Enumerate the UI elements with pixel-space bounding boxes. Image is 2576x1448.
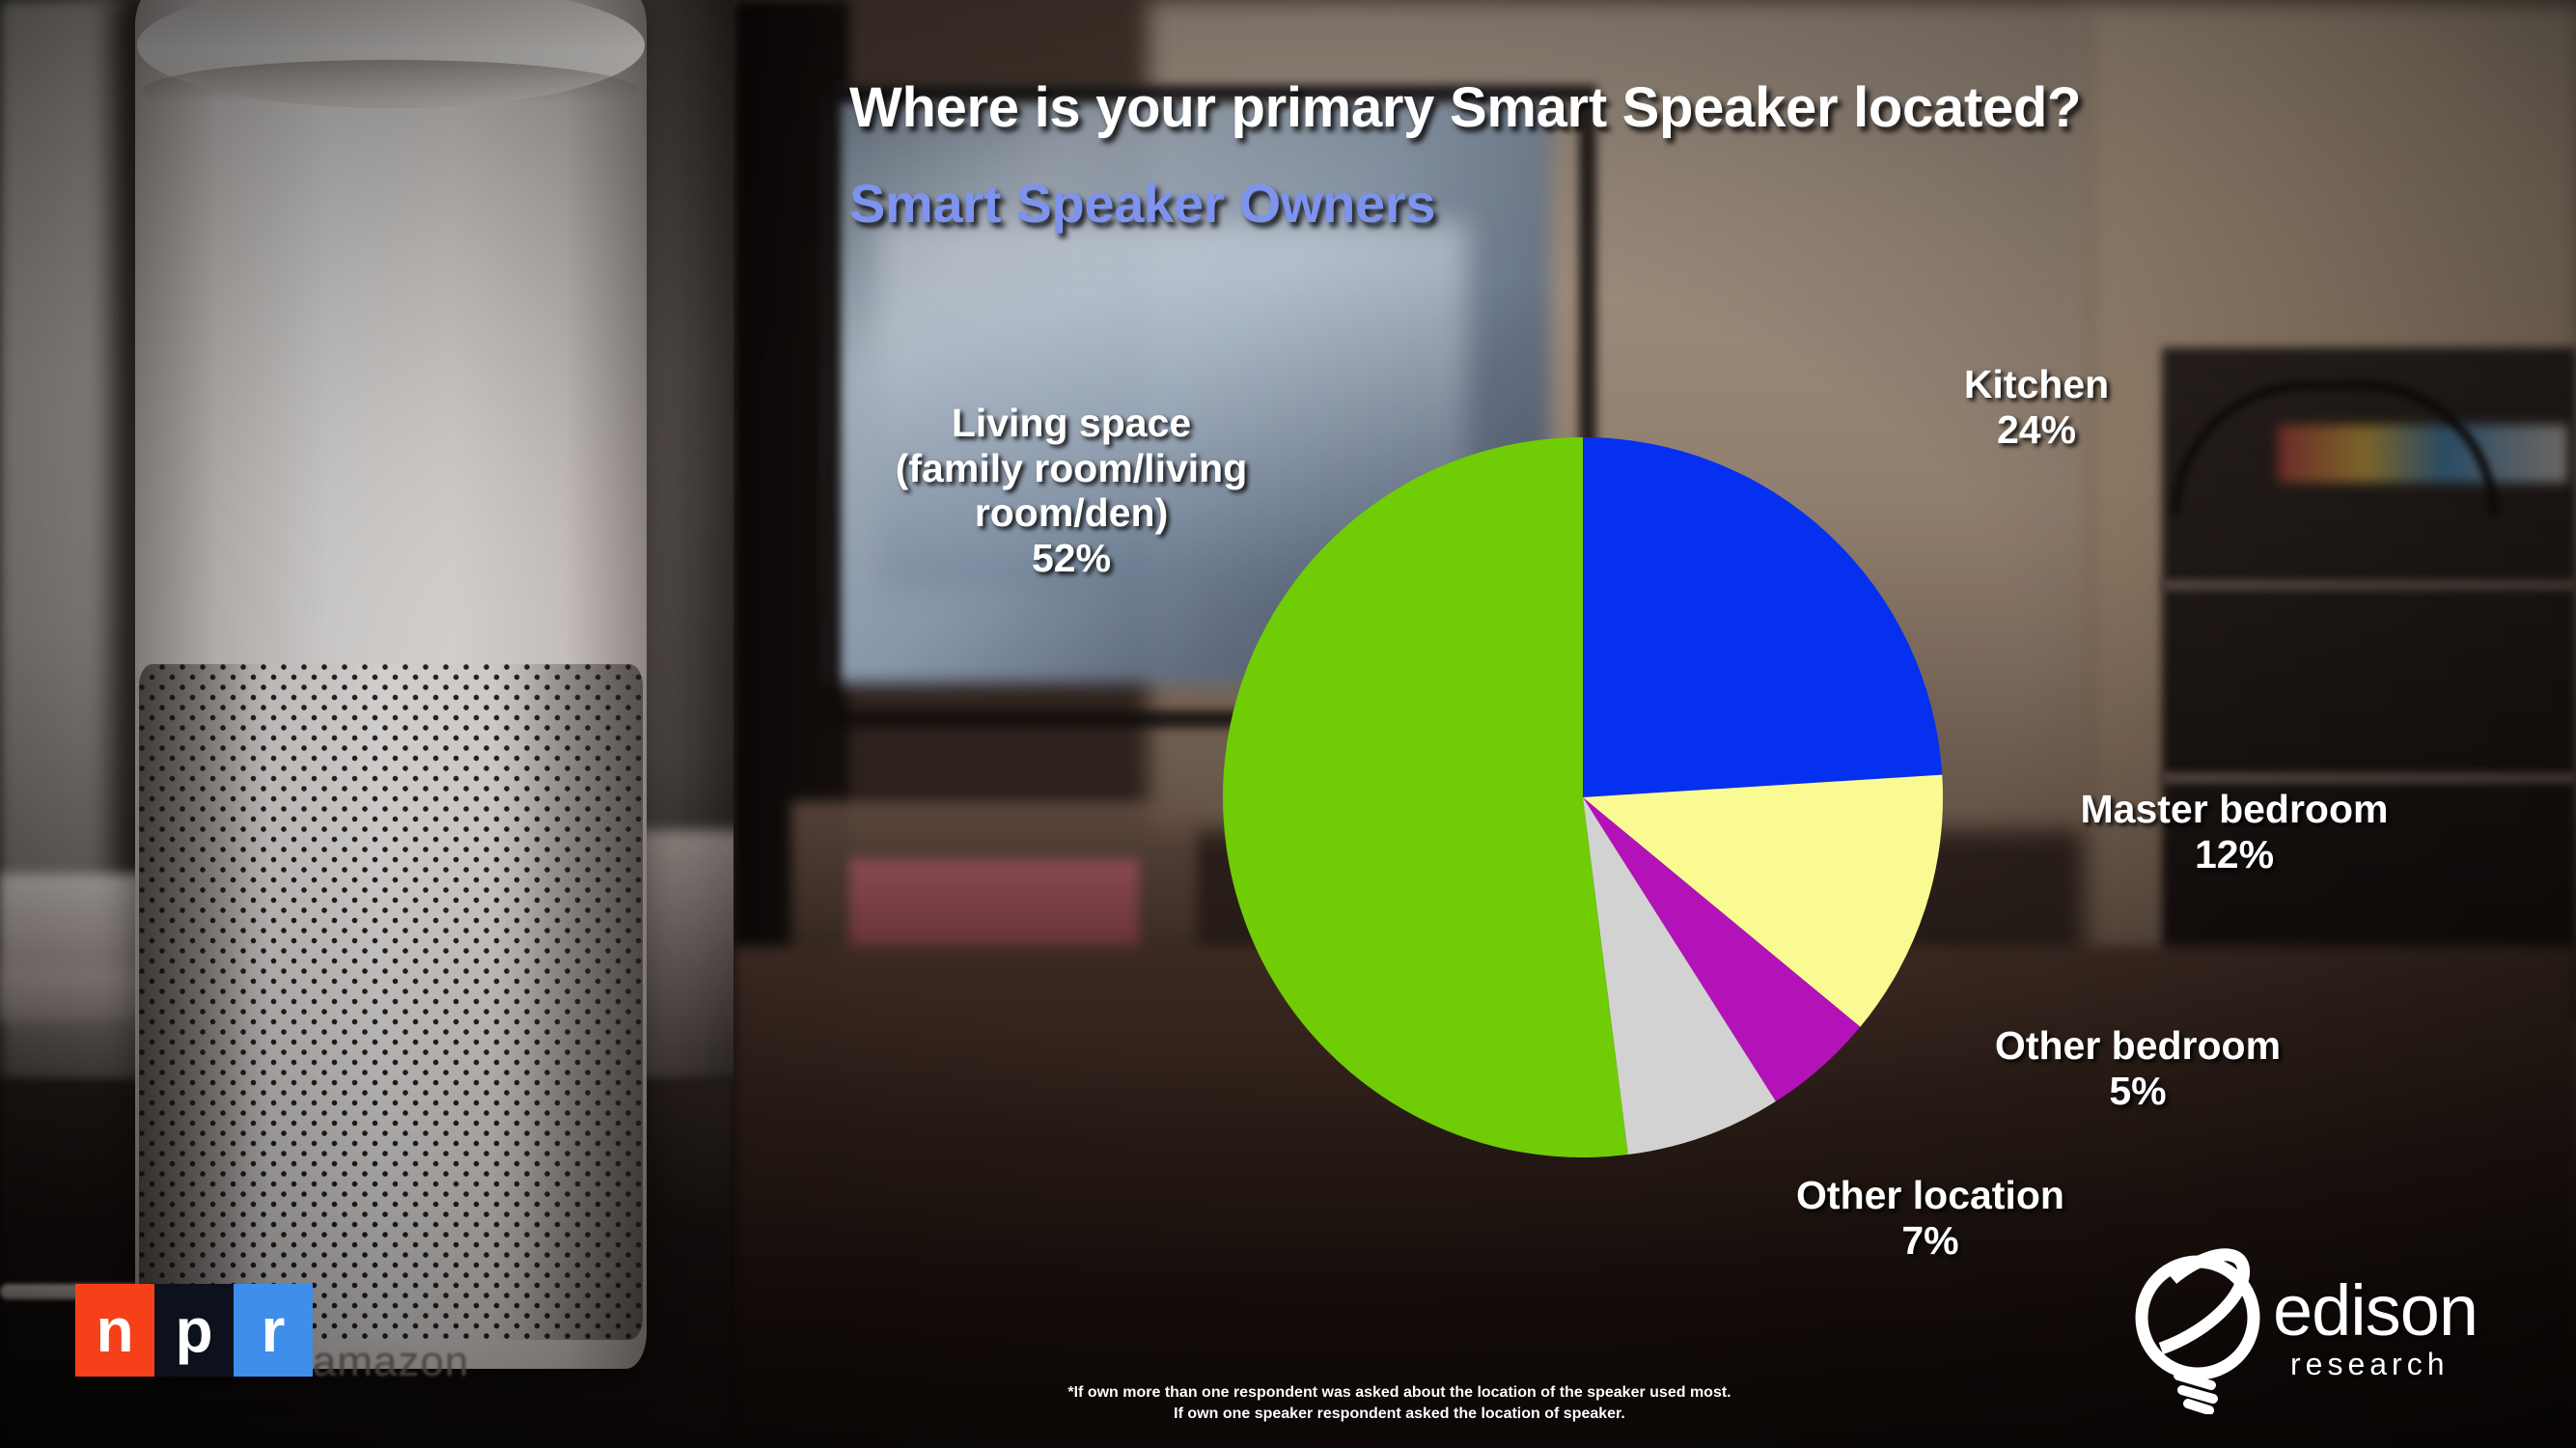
pie-label-living-space-line2: (family room/living [830,446,1313,491]
echo-device: amazon [135,0,647,1407]
echo-grille-shading [139,664,643,1340]
pie-label-other-location-value: 7% [1728,1218,2133,1264]
npr-logo-letter-p: p [154,1284,234,1377]
pie-label-master-bedroom-value: 12% [2017,832,2451,877]
slide-root: amazon Where is your primary Smart Speak… [0,0,2576,1448]
pie-label-kitchen-name: Kitchen [1877,362,2196,407]
npr-logo-letter-n: n [75,1284,154,1377]
pie-label-living-space-line1: Living space [830,401,1313,446]
pie-label-master-bedroom: Master bedroom 12% [2017,787,2451,877]
page-subtitle: Smart Speaker Owners [849,172,1435,235]
pie-label-living-space: Living space (family room/living room/de… [830,401,1313,581]
shelf-board [2162,772,2576,784]
amazon-echo-photo: amazon [0,0,734,1448]
pie-label-other-location: Other location 7% [1728,1173,2133,1263]
pie-label-other-bedroom-name: Other bedroom [1925,1023,2350,1069]
pie-label-kitchen-value: 24% [1877,407,2196,453]
page-title: Where is your primary Smart Speaker loca… [849,75,2081,140]
edison-research-logo: edison research [2128,1240,2534,1414]
pie-label-living-space-line3: room/den) [830,490,1313,536]
pie-label-living-space-value: 52% [830,536,1313,581]
pie-label-other-bedroom: Other bedroom 5% [1925,1023,2350,1113]
background-wall [0,0,124,1023]
shelf-board [2162,579,2576,591]
pie-chart [1221,435,1945,1159]
npr-logo-letter-r: r [234,1284,313,1377]
edison-lightbulb-icon [2128,1240,2292,1414]
pie-label-other-location-name: Other location [1728,1173,2133,1218]
pie-label-kitchen: Kitchen 24% [1877,362,2196,452]
pie-label-master-bedroom-name: Master bedroom [2017,787,2451,832]
footnote: *If own more than one respondent was ask… [1062,1382,1737,1424]
pie-slice-kitchen [1583,437,1942,797]
edison-wordmark: edison [2273,1275,2478,1347]
edison-tagline: research [2290,1349,2450,1379]
echo-light-ring [143,60,639,122]
pie-label-other-bedroom-value: 5% [1925,1069,2350,1114]
npr-logo: n p r [75,1284,313,1377]
